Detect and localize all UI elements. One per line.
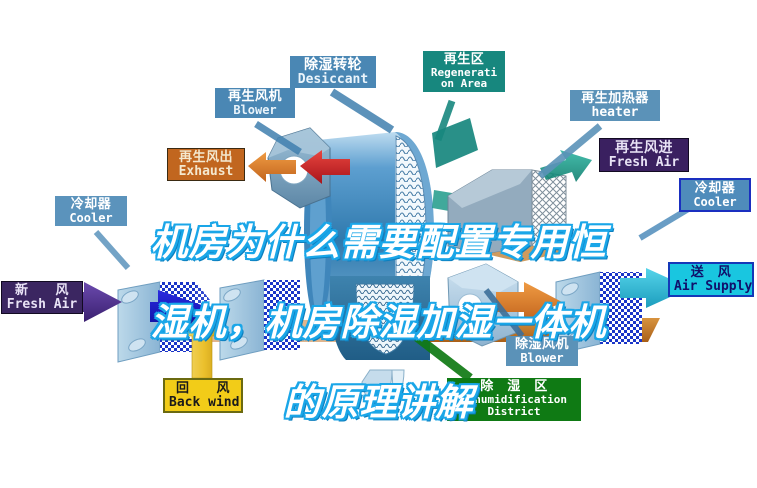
dehumidifier-schematic-image: xh: [0, 0, 757, 488]
label-regeneration-exhaust: 再生风出 Exhaust: [167, 148, 245, 181]
cooler-coil-mid: [220, 280, 300, 360]
label-fresh-air-inlet-en: Fresh Air: [6, 298, 78, 312]
label-back-wind-return: 回 风 Back wind: [163, 378, 243, 413]
label-regeneration-exhaust-en: Exhaust: [172, 165, 240, 179]
label-dehumidification-blower-cn: 除湿风机: [510, 338, 574, 352]
label-cooler-right-cn: 冷却器: [685, 182, 745, 196]
label-dehumidification-district-cn: 除 湿 区: [451, 380, 577, 394]
label-regeneration-area-en: Regenerati on Area: [427, 67, 501, 90]
label-desiccant-rotor-cn: 除湿转轮: [294, 58, 372, 73]
label-fresh-air-inlet-cn: 新 风: [6, 284, 78, 298]
label-regeneration-fresh-air-in-cn: 再生风进: [604, 141, 684, 156]
label-regeneration-heater-cn: 再生加热器: [574, 92, 656, 106]
label-dehumidification-district: 除 湿 区 Dehumidification District: [447, 378, 581, 421]
label-regeneration-exhaust-cn: 再生风出: [172, 151, 240, 165]
label-back-wind-return-en: Back wind: [169, 396, 237, 410]
label-desiccant-rotor-en: Desiccant: [294, 73, 372, 87]
label-dehumidification-blower: 除湿风机 Blower: [506, 336, 578, 366]
heater-block: [430, 168, 566, 262]
label-cooler-left-en: Cooler: [59, 212, 123, 225]
schematic-artwork: xh: [0, 0, 757, 488]
label-cooler-right: 冷却器 Cooler: [679, 178, 751, 212]
label-fresh-air-inlet: 新 风 Fresh Air: [1, 281, 83, 314]
label-regeneration-blower-en: Blower: [219, 104, 291, 117]
label-air-supply-outlet: 送 风 Air Supply: [668, 262, 754, 297]
label-back-wind-return-cn: 回 风: [169, 382, 237, 396]
label-cooler-left: 冷却器 Cooler: [55, 196, 127, 226]
label-cooler-right-en: Cooler: [685, 196, 745, 209]
label-regeneration-fresh-air-in: 再生风进 Fresh Air: [599, 138, 689, 172]
label-air-supply-outlet-en: Air Supply: [674, 280, 748, 294]
label-desiccant-rotor: 除湿转轮 Desiccant: [290, 56, 376, 88]
label-regeneration-area-cn: 再生区: [427, 53, 501, 67]
label-regeneration-blower-cn: 再生风机: [219, 90, 291, 104]
label-cooler-left-cn: 冷却器: [59, 198, 123, 212]
label-dehumidification-district-en: Dehumidification District: [451, 394, 577, 419]
label-regeneration-area: 再生区 Regenerati on Area: [423, 51, 505, 92]
label-regeneration-fresh-air-in-en: Fresh Air: [604, 156, 684, 170]
label-dehumidification-blower-en: Blower: [510, 352, 574, 365]
label-regeneration-heater-en: heater: [574, 106, 656, 120]
svg-text:xh: xh: [352, 306, 366, 319]
label-regeneration-heater: 再生加热器 heater: [570, 90, 660, 121]
label-regeneration-blower: 再生风机 Blower: [215, 88, 295, 118]
cooler-coil-right-top: [598, 182, 624, 231]
label-air-supply-outlet-cn: 送 风: [674, 266, 748, 280]
